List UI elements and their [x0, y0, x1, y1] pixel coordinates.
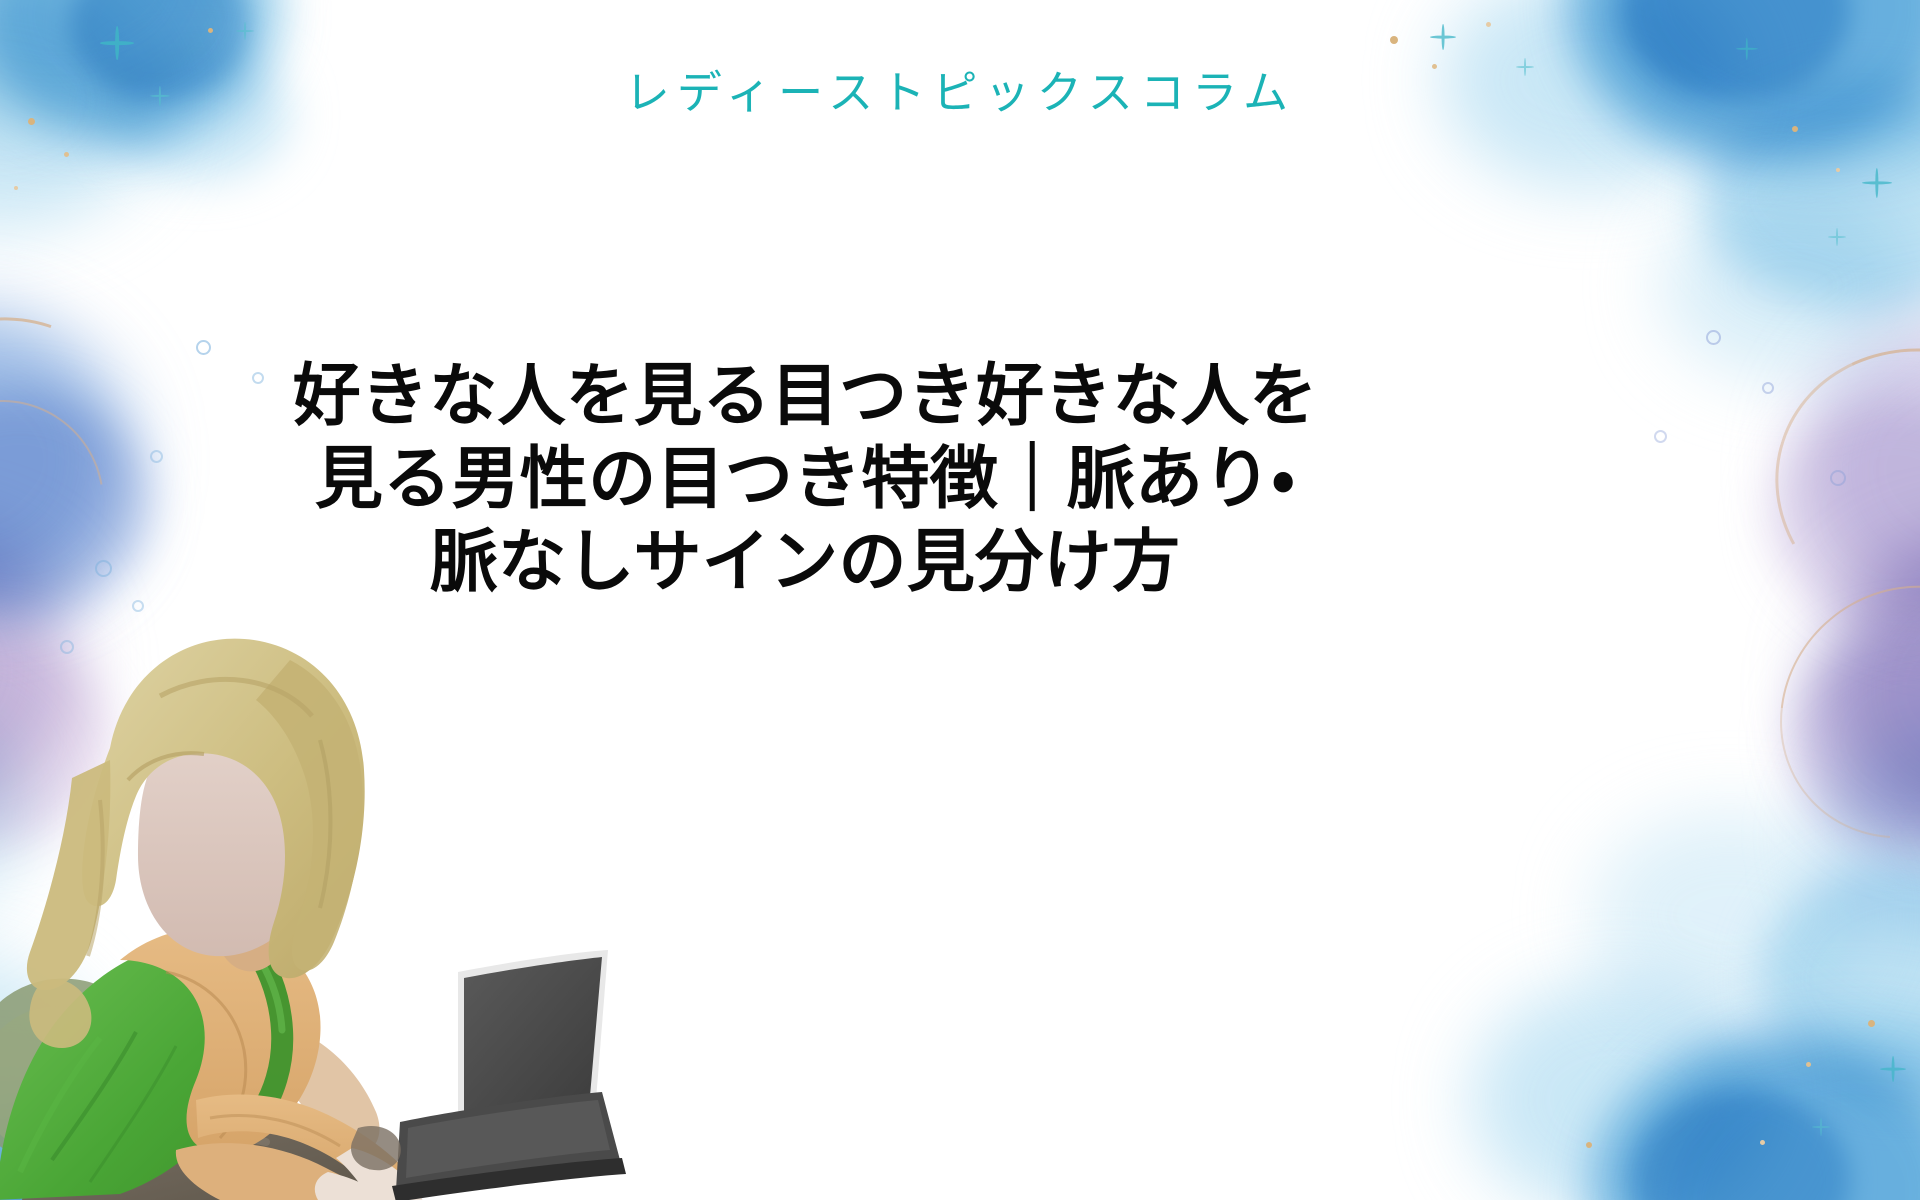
- gold-sparkle-dot: [28, 118, 35, 125]
- star-glint-icon: [1828, 228, 1846, 246]
- gold-sparkle-dot: [1792, 126, 1798, 132]
- bubble-dot: [1654, 430, 1667, 443]
- watercolor-splash-bottom-right: [1350, 780, 1920, 1200]
- gold-sparkle-dot: [208, 28, 213, 33]
- gold-sparkle-dot: [1868, 1020, 1875, 1027]
- eyecatch-canvas: レディーストピックスコラム: [0, 0, 1920, 1200]
- page-title-line-2: 見る男性の目つき特徴｜脈あり・: [270, 438, 1340, 521]
- watercolor-splash-top-right: [1310, 0, 1920, 390]
- star-glint-icon: [1880, 1056, 1906, 1082]
- star-glint-icon: [1430, 24, 1456, 50]
- star-glint-icon: [236, 22, 254, 40]
- bubble-dot: [1706, 330, 1721, 345]
- gold-sparkle-dot: [14, 186, 18, 190]
- watercolor-splash-right-middle: [1600, 290, 1920, 930]
- page-title-line-1: 好きな人を見る目つき好きな人を: [270, 355, 1340, 438]
- gold-sparkle-dot: [1586, 1142, 1592, 1148]
- gold-sparkle-dot: [1836, 168, 1840, 172]
- bubble-dot: [1830, 470, 1846, 486]
- star-glint-icon: [1736, 38, 1758, 60]
- gold-sparkle-dot: [64, 152, 69, 157]
- gold-sparkle-dot: [1432, 64, 1437, 69]
- bubble-dot: [1762, 382, 1774, 394]
- gold-sparkle-dot: [1390, 36, 1398, 44]
- page-title: 好きな人を見る目つき好きな人を 見る男性の目つき特徴｜脈あり・ 脈なしサインの見…: [270, 355, 1340, 604]
- star-glint-icon: [1862, 168, 1892, 198]
- bubble-dot: [196, 340, 211, 355]
- watercolor-splash-top-left: [0, 0, 470, 360]
- gold-sparkle-dot: [1806, 1062, 1811, 1067]
- gold-sparkle-dot: [1760, 1140, 1765, 1145]
- bubble-dot: [252, 372, 264, 384]
- page-kicker: レディーストピックスコラム: [0, 70, 1920, 115]
- star-glint-icon: [1812, 1118, 1830, 1136]
- star-glint-icon: [100, 26, 134, 60]
- gold-sparkle-dot: [1486, 22, 1491, 27]
- page-title-line-3: 脈なしサインの見分け方: [270, 521, 1340, 604]
